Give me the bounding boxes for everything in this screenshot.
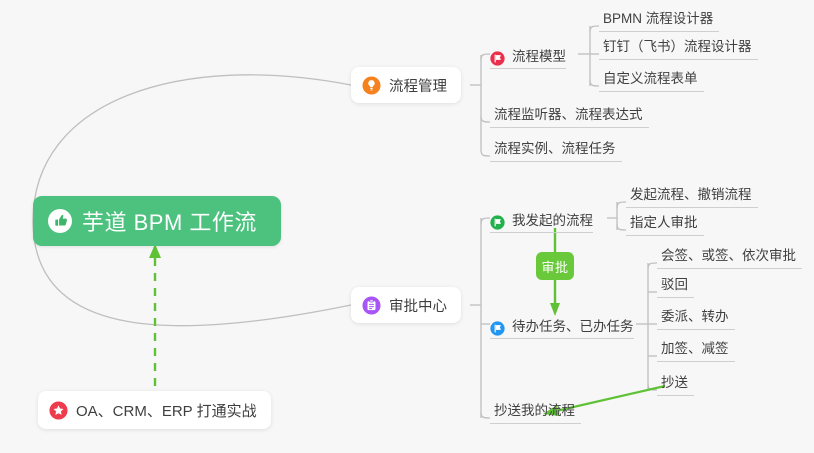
subnode-my-initiated-process-label: 我发起的流程 — [512, 212, 593, 230]
wire-todo-leaf-5 — [648, 384, 657, 390]
wire-approval-to-mine — [481, 218, 490, 224]
wire-approval-to-leaf — [481, 412, 490, 418]
subnode-my-initiated-process[interactable]: 我发起的流程 — [490, 208, 593, 233]
lightbulb-icon — [362, 76, 381, 95]
leaf-reject[interactable]: 驳回 — [657, 276, 694, 298]
wire-model-leaf-3 — [590, 80, 599, 86]
flag-icon — [490, 51, 505, 66]
mindmap-canvas: 芋道 BPM 工作流 流程管理 审批中心 — [0, 0, 814, 453]
approval-badge-label: 审批 — [541, 257, 568, 276]
leaf-start-cancel-process[interactable]: 发起流程、撤销流程 — [626, 186, 758, 208]
wire-process-to-model — [481, 54, 490, 60]
leaf-custom-process-form[interactable]: 自定义流程表单 — [599, 70, 704, 92]
leaf-bpmn-designer[interactable]: BPMN 流程设计器 — [599, 10, 719, 32]
wire-mine-leaf-2 — [617, 224, 626, 230]
branch-approval-center-label: 审批中心 — [389, 295, 447, 316]
leaf-countersign-orsign-sequential[interactable]: 会签、或签、依次审批 — [657, 247, 802, 269]
footer-dashed-arrow — [149, 244, 161, 386]
wire-todo-leaf-1 — [648, 263, 657, 269]
approval-badge: 审批 — [536, 252, 574, 280]
footer-integration-card[interactable]: OA、CRM、ERP 打通实战 — [38, 391, 271, 429]
thumbs-up-icon — [47, 208, 73, 234]
leaf-process-instance-task[interactable]: 流程实例、流程任务 — [490, 140, 622, 162]
branch-process-management-label: 流程管理 — [389, 75, 447, 96]
star-icon — [49, 401, 68, 420]
leaf-add-remove-sign[interactable]: 加签、减签 — [657, 340, 735, 362]
leaf-designated-approver[interactable]: 指定人审批 — [626, 214, 704, 236]
subnode-todo-done-tasks-label: 待办任务、已办任务 — [512, 318, 634, 336]
wire-process-to-leaf-1 — [481, 116, 490, 122]
footer-integration-label: OA、CRM、ERP 打通实战 — [76, 400, 257, 421]
flag-icon — [490, 321, 505, 336]
leaf-cc-my-process[interactable]: 抄送我的流程 — [490, 402, 581, 424]
subnode-process-model-label: 流程模型 — [512, 48, 566, 66]
leaf-cc[interactable]: 抄送 — [657, 374, 694, 396]
branch-process-management[interactable]: 流程管理 — [351, 67, 461, 103]
wire-process-to-leaf-2 — [481, 150, 490, 156]
wire-model-leaf-1 — [590, 26, 599, 32]
root-label: 芋道 BPM 工作流 — [82, 205, 257, 237]
leaf-process-listener-expression[interactable]: 流程监听器、流程表达式 — [490, 106, 649, 128]
leaf-dingtalk-feishu-designer[interactable]: 钉钉（飞书）流程设计器 — [599, 38, 758, 60]
subnode-todo-done-tasks[interactable]: 待办任务、已办任务 — [490, 314, 634, 339]
leaf-delegate-transfer[interactable]: 委派、转办 — [657, 308, 735, 330]
clipboard-icon — [362, 296, 381, 315]
branch-approval-center[interactable]: 审批中心 — [351, 287, 461, 323]
flag-icon — [490, 215, 505, 230]
wire-mine-leaf-1 — [617, 202, 626, 208]
root-node[interactable]: 芋道 BPM 工作流 — [33, 196, 281, 246]
subnode-process-model[interactable]: 流程模型 — [490, 44, 566, 69]
